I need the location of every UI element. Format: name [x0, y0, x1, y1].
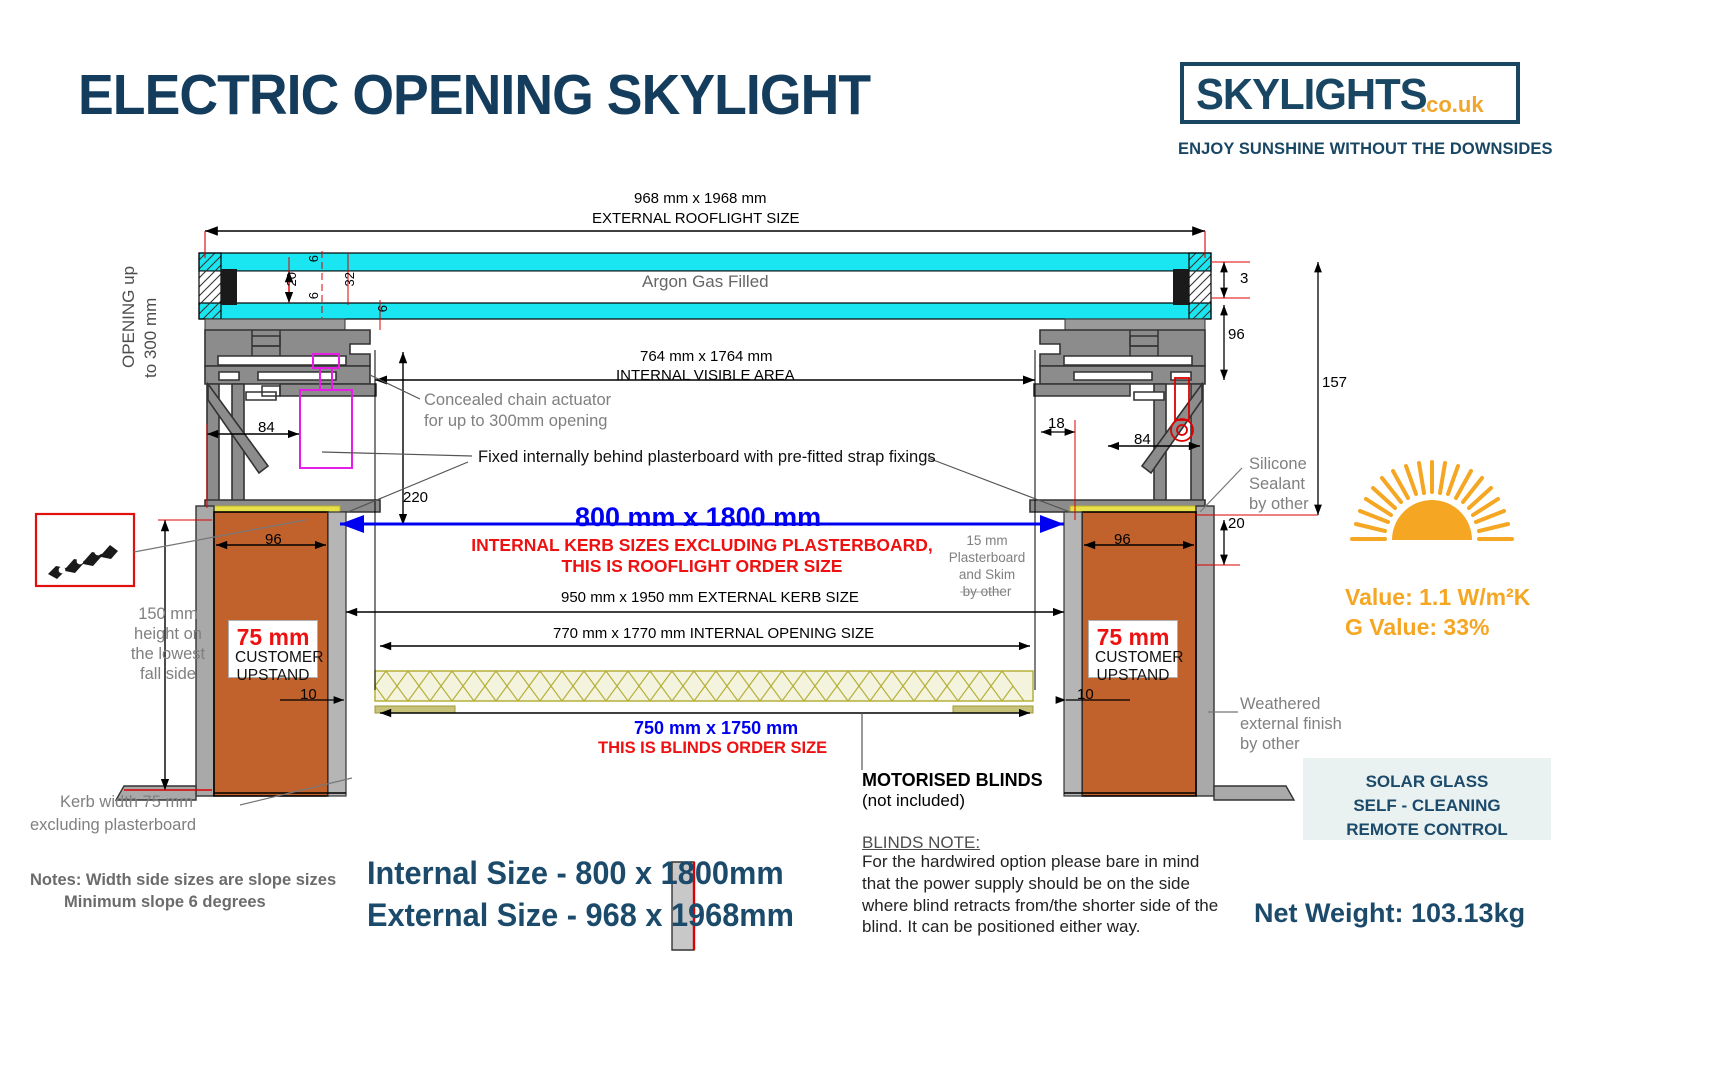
- feature-remote-control: REMOTE CONTROL: [1303, 818, 1551, 842]
- blinds-note-body: For the hardwired option please bare in …: [862, 851, 1222, 938]
- upstand-label-right-1: CUSTOMER: [1095, 649, 1171, 666]
- u-value: Value: 1.1 W/m²K: [1345, 582, 1530, 612]
- dim-10-left: 10: [300, 686, 317, 703]
- fall-height-4: fall side: [128, 664, 208, 685]
- blinds-order-note: THIS IS BLINDS ORDER SIZE: [598, 739, 827, 758]
- upstand-label-left-2: UPSTAND: [235, 667, 311, 684]
- dim-20-right: 20: [1228, 515, 1245, 532]
- opening-label-1: OPENING up: [118, 248, 139, 368]
- upstand-value-left: 75 mm: [235, 625, 311, 649]
- silicone-note-3: by other: [1249, 494, 1309, 515]
- notes-line-2: Minimum slope 6 degrees: [64, 893, 266, 912]
- dim-96-left: 96: [265, 531, 282, 548]
- opening-label-2: to 300 mm: [140, 258, 161, 378]
- internal-visible-label: INTERNAL VISIBLE AREA: [616, 367, 795, 384]
- silicone-note-2: Sealant: [1249, 474, 1305, 495]
- glass-performance-values: Value: 1.1 W/m²K G Value: 33%: [1345, 582, 1530, 643]
- glass-dim-inner2: 6: [375, 305, 390, 312]
- feature-self-cleaning: SELF - CLEANING: [1303, 794, 1551, 818]
- internal-opening-size: 770 mm x 1770 mm INTERNAL OPENING SIZE: [553, 625, 874, 642]
- net-weight: Net Weight: 103.13kg: [1254, 898, 1525, 929]
- fall-height-1: 150 mm: [128, 604, 208, 625]
- dim-96-right-kerb: 96: [1114, 531, 1131, 548]
- glass-dim-cavity: 20: [284, 272, 299, 286]
- dim-84-left: 84: [258, 419, 275, 436]
- weathered-note-2: external finish: [1240, 714, 1342, 735]
- main-kerb-size: 800 mm x 1800 mm: [575, 502, 821, 533]
- glass-dim-inner: 6: [306, 292, 321, 299]
- argon-label: Argon Gas Filled: [642, 272, 769, 292]
- weathered-note-3: by other: [1240, 734, 1300, 755]
- glass-dim-outer: 6: [306, 255, 321, 262]
- external-size-summary: External Size - 968 x 1968mm: [367, 897, 794, 934]
- internal-visible-size: 764 mm x 1764 mm: [640, 348, 773, 365]
- feature-list: SOLAR GLASS SELF - CLEANING REMOTE CONTR…: [1303, 770, 1551, 842]
- kerb-width-note-2: excluding plasterboard: [30, 815, 196, 836]
- plasterboard-note-1: 15 mm: [952, 533, 1022, 550]
- upstand-value-right: 75 mm: [1095, 625, 1171, 649]
- blinds-order-size: 750 mm x 1750 mm: [634, 718, 798, 739]
- glass-dim-total: 32: [342, 272, 357, 286]
- fall-height-3: the lowest: [128, 644, 208, 665]
- plasterboard-note-4: by other: [940, 584, 1034, 601]
- silicone-note-1: Silicone: [1249, 454, 1307, 475]
- kerb-width-note-1: Kerb width 75 mm: [60, 792, 193, 813]
- kerb-note-line2: THIS IS ROOFLIGHT ORDER SIZE: [402, 556, 1002, 577]
- dim-10-right: 10: [1077, 686, 1094, 703]
- plasterboard-note-3: and Skim: [940, 567, 1034, 584]
- g-value: G Value: 33%: [1345, 612, 1530, 642]
- customer-upstand-left: 75 mm CUSTOMER UPSTAND: [228, 620, 318, 678]
- actuator-note-2: for up to 300mm opening: [424, 411, 607, 432]
- plasterboard-note-2: Plasterboard: [940, 550, 1034, 567]
- strap-fixing-note: Fixed internally behind plasterboard wit…: [478, 447, 936, 468]
- dim-157: 157: [1322, 374, 1347, 391]
- upstand-label-left-1: CUSTOMER: [235, 649, 311, 666]
- external-rooflight-size: 968 mm x 1968 mm: [634, 190, 767, 207]
- kerb-note-line1: INTERNAL KERB SIZES EXCLUDING PLASTERBOA…: [402, 535, 1002, 556]
- motorised-blinds-label: MOTORISED BLINDS: [862, 770, 1043, 791]
- dim-18: 18: [1048, 415, 1065, 432]
- dim-220: 220: [403, 489, 428, 506]
- blinds-note-title: BLINDS NOTE:: [862, 833, 980, 853]
- dim-96-right: 96: [1228, 326, 1245, 343]
- upstand-label-right-2: UPSTAND: [1095, 667, 1171, 684]
- dim-3: 3: [1240, 270, 1248, 287]
- external-rooflight-label: EXTERNAL ROOFLIGHT SIZE: [592, 210, 800, 227]
- feature-solar-glass: SOLAR GLASS: [1303, 770, 1551, 794]
- weathered-note-1: Weathered: [1240, 694, 1320, 715]
- external-kerb-size: 950 mm x 1950 mm EXTERNAL KERB SIZE: [561, 589, 859, 606]
- customer-upstand-right: 75 mm CUSTOMER UPSTAND: [1088, 620, 1178, 678]
- notes-line-1: Notes: Width side sizes are slope sizes: [30, 871, 336, 890]
- actuator-note-1: Concealed chain actuator: [424, 390, 611, 411]
- dim-84-right: 84: [1134, 431, 1151, 448]
- motorised-blinds-sub: (not included): [862, 791, 965, 811]
- fall-height-2: height on: [128, 624, 208, 645]
- internal-size-summary: Internal Size - 800 x 1800mm: [367, 855, 784, 892]
